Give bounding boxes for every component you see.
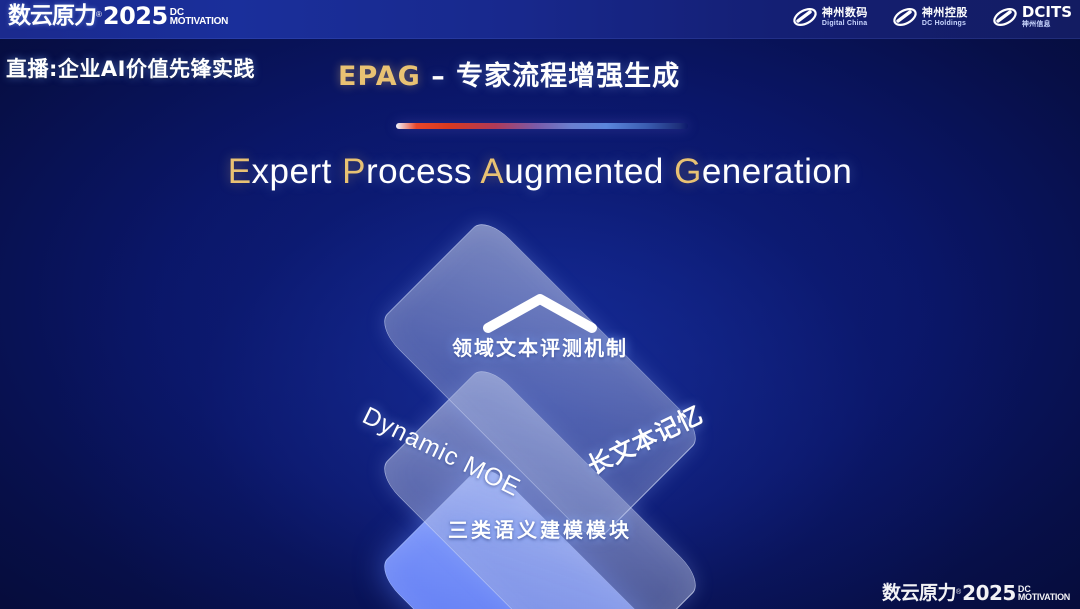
page-title: EPAG – 专家流程增强生成 [338,54,680,93]
partner-logo-dc-holdings: 神州控股 DC Holdings [892,4,968,30]
subtitle-word-augmented: ugmented [504,152,674,191]
swoosh-icon [992,4,1018,30]
swoosh-icon [892,4,918,30]
page-title-acronym: EPAG [338,61,421,92]
brand-logo: 数云原力®2025 DC MOTIVATION [8,4,228,28]
page-subtitle: Expert Process Augmented Generation [0,152,1080,192]
brand-logo-motivation: MOTIVATION [170,17,228,27]
brand-logo-chinese: 数云原力 [8,5,96,28]
partner-name-cn: DCITS [1022,5,1072,20]
brand-logo-registered: ® [96,10,102,19]
partner-logos: 神州数码 Digital China 神州控股 DC Holdings [792,4,1072,30]
subtitle-cap-e: E [228,152,252,191]
page-title-chinese: 专家流程增强生成 [456,61,680,92]
partner-logo-text: DCITS 神州信息 [1022,5,1072,29]
partner-name-en: Digital China [822,19,868,28]
brand-logo-year: 2025 [103,4,168,28]
gradient-divider [396,123,688,129]
watermark-motivation: MOTIVATION [1018,593,1070,602]
subtitle-cap-g: G [674,152,702,191]
watermark-chinese: 数云原力 [882,584,956,603]
partner-logo-dcits: DCITS 神州信息 [992,4,1072,30]
partner-name-cn: 神州数码 [822,7,868,19]
subtitle-word-generation: eneration [702,152,852,191]
layered-stack-diagram: 领域文本评测机制 Dynamic MOE 长文本记忆 三类语义建模模块 [290,222,790,572]
subtitle-cap-p: P [342,152,366,191]
live-stream-title: 直播:企业AI价值先锋实践 [6,53,255,83]
partner-name-en: 神州信息 [1022,20,1072,29]
partner-name-cn: 神州控股 [922,7,968,19]
page-title-separator: – [421,61,456,92]
watermark-registered: ® [956,589,961,596]
swoosh-icon [792,4,818,30]
subtitle-word-process: rocess [366,152,480,191]
slide-canvas: 数云原力®2025 DC MOTIVATION 神州数码 Digital Chi… [0,0,1080,609]
subtitle-cap-a: A [480,152,504,191]
brand-logo-dc-motivation: DC MOTIVATION [170,8,228,27]
partner-name-en: DC Holdings [922,19,968,28]
watermark-year: 2025 [962,583,1016,603]
partner-logo-digital-china: 神州数码 Digital China [792,4,868,30]
partner-logo-text: 神州控股 DC Holdings [922,7,968,28]
partner-logo-text: 神州数码 Digital China [822,7,868,28]
watermark-dc-motivation: DC MOTIVATION [1018,585,1070,602]
footer-watermark: 数云原力®2025 DC MOTIVATION [882,583,1070,603]
subtitle-word-expert: xpert [252,152,343,191]
